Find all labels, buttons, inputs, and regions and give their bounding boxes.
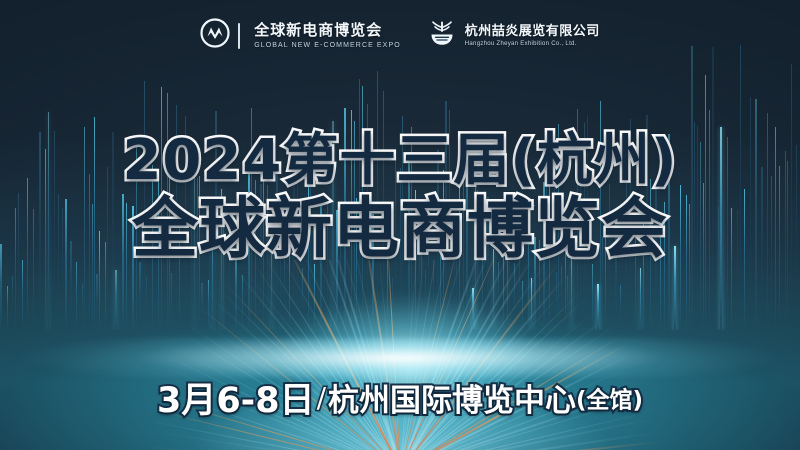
logo-text-block: 全球新电商博览会 GLOBAL NEW E-COMMERCE EXPO — [254, 23, 401, 49]
info-separator: / — [315, 381, 328, 414]
zheyan-bowl-flame-icon — [427, 18, 457, 53]
headline-line-2: 全球新电商博览会 — [0, 195, 800, 262]
event-venue: 杭州国际博览中心 — [328, 383, 576, 419]
logo-name-cn: 全球新电商博览会 — [254, 23, 401, 38]
globe-wave-circle-icon — [200, 18, 230, 53]
logo-name-en: Hangzhou Zheyan Exhibition Co., Ltd. — [465, 41, 600, 47]
event-date: 3月6-8日 — [157, 381, 315, 421]
logo-name-en: GLOBAL NEW E-COMMERCE EXPO — [254, 42, 401, 49]
logo-row: 全球新电商博览会 GLOBAL NEW E-COMMERCE EXPO 杭州喆炎… — [0, 18, 800, 53]
logo-hangzhou-zheyan: 杭州喆炎展览有限公司 Hangzhou Zheyan Exhibition Co… — [427, 18, 600, 53]
expo-poster: 全球新电商博览会 GLOBAL NEW E-COMMERCE EXPO 杭州喆炎… — [0, 0, 800, 450]
poster-headline: 2024第十三届(杭州) 全球新电商博览会 — [0, 132, 800, 262]
logo-text-block: 杭州喆炎展览有限公司 Hangzhou Zheyan Exhibition Co… — [465, 24, 600, 47]
logo-name-cn: 杭州喆炎展览有限公司 — [465, 24, 600, 37]
logo-global-new-ecommerce-expo: 全球新电商博览会 GLOBAL NEW E-COMMERCE EXPO — [200, 18, 401, 53]
event-hall: (全馆) — [576, 388, 643, 414]
logo-divider — [238, 23, 240, 49]
event-info-line: 3月6-8日/杭州国际博览中心(全馆) — [0, 372, 800, 423]
headline-line-1: 2024第十三届(杭州) — [0, 132, 800, 189]
